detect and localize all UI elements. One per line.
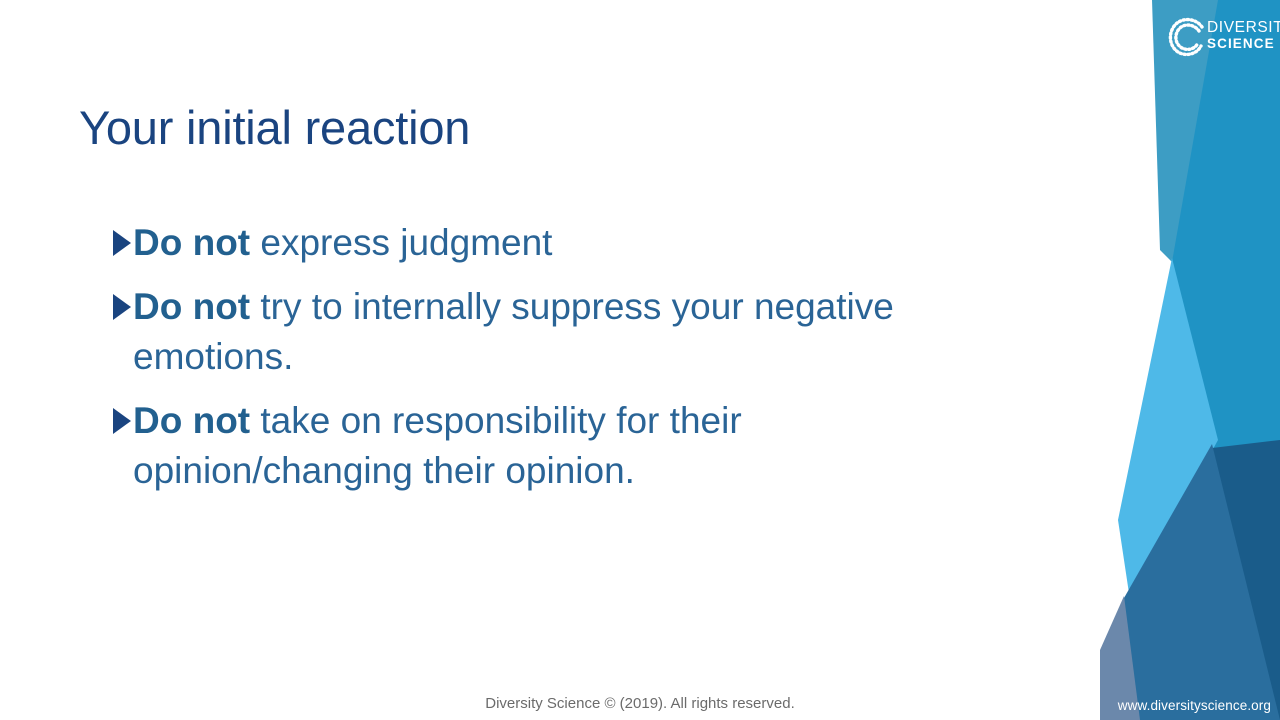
list-item-text: Do not express judgment [133,218,903,268]
footer-website-url: www.diversityscience.org [1118,698,1271,713]
shape-bright-blue [1164,0,1280,560]
brand-logo: DIVERSITY SCIENCE [1166,14,1272,68]
list-item: Do not try to internally suppress your n… [113,282,903,382]
list-item: Do not take on responsibility for their … [113,396,903,496]
list-item-rest: express judgment [250,222,552,263]
triangle-right-bullet-icon [113,408,131,434]
page-title: Your initial reaction [79,100,470,155]
triangle-right-bullet-icon [113,294,131,320]
list-item-lead: Do not [133,222,250,263]
triangle-right-bullet-icon [113,230,131,256]
corner-decoration-graphic [1100,0,1280,720]
list-item-lead: Do not [133,400,250,441]
shape-sky-blue [1118,258,1218,600]
brand-name-line1: DIVERSITY [1207,20,1280,36]
list-item-text: Do not take on responsibility for their … [133,396,903,496]
brand-wordmark: DIVERSITY SCIENCE [1207,20,1280,50]
brand-name-line2: SCIENCE [1207,37,1280,51]
list-item-lead: Do not [133,286,250,327]
footer-copyright: Diversity Science © (2019). All rights r… [0,695,1280,712]
spiral-rope-circle-icon [1166,14,1210,62]
list-item-text: Do not try to internally suppress your n… [133,282,903,382]
list-item: Do not express judgment [113,218,903,268]
bullet-list: Do not express judgment Do not try to in… [113,218,903,510]
shape-mid-steel [1124,444,1280,720]
slide-canvas: DIVERSITY SCIENCE Your initial reaction … [0,0,1280,720]
shape-dark-steel [1196,440,1280,720]
